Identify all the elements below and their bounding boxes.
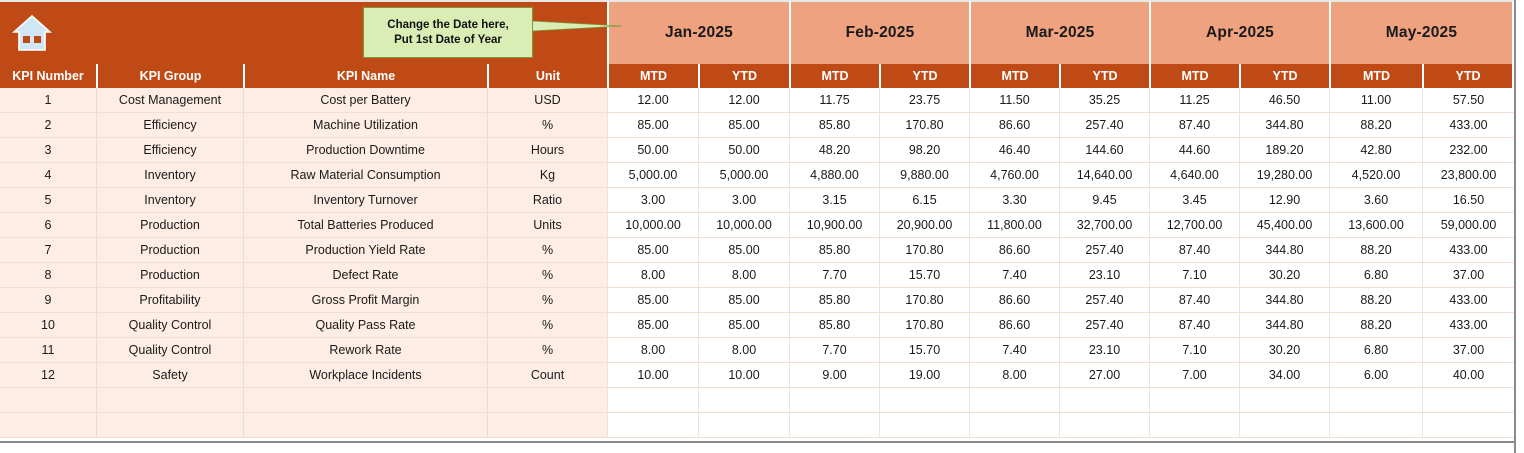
kpi-group-cell: Efficiency bbox=[96, 113, 243, 138]
value-cell: 85.80 bbox=[789, 288, 879, 313]
value-cell: 3.00 bbox=[698, 188, 789, 213]
kpi-unit-cell: % bbox=[487, 313, 607, 338]
value-cell: 433.00 bbox=[1422, 238, 1514, 263]
empty-cell bbox=[969, 413, 1059, 438]
value-cell: 86.60 bbox=[969, 288, 1059, 313]
value-cell: 23,800.00 bbox=[1422, 163, 1514, 188]
value-cell: 88.20 bbox=[1329, 238, 1422, 263]
value-cell: 257.40 bbox=[1059, 313, 1149, 338]
column-header-kpi-group[interactable]: KPI Group bbox=[96, 64, 243, 88]
value-cell: 170.80 bbox=[879, 238, 969, 263]
empty-cell bbox=[1422, 413, 1514, 438]
value-cell: 7.10 bbox=[1149, 263, 1239, 288]
value-cell: 8.00 bbox=[698, 338, 789, 363]
value-cell: 88.20 bbox=[1329, 288, 1422, 313]
kpi-number-cell: 6 bbox=[0, 213, 96, 238]
value-cell: 86.60 bbox=[969, 113, 1059, 138]
value-cell: 87.40 bbox=[1149, 313, 1239, 338]
value-cell: 85.00 bbox=[698, 313, 789, 338]
value-cell: 45,400.00 bbox=[1239, 213, 1329, 238]
empty-cell bbox=[1329, 388, 1422, 413]
kpi-unit-cell: Kg bbox=[487, 163, 607, 188]
column-header-kpi-number[interactable]: KPI Number bbox=[0, 64, 96, 88]
kpi-number-cell: 2 bbox=[0, 113, 96, 138]
column-header-jan-2025-mtd[interactable]: MTD bbox=[607, 64, 698, 88]
value-cell: 8.00 bbox=[607, 338, 698, 363]
horizontal-scrollbar[interactable] bbox=[0, 441, 1514, 453]
value-cell: 44.60 bbox=[1149, 138, 1239, 163]
value-cell: 6.15 bbox=[879, 188, 969, 213]
value-cell: 344.80 bbox=[1239, 288, 1329, 313]
kpi-name-cell: Workplace Incidents bbox=[243, 363, 487, 388]
value-cell: 10.00 bbox=[698, 363, 789, 388]
kpi-name-cell: Production Downtime bbox=[243, 138, 487, 163]
value-cell: 6.80 bbox=[1329, 338, 1422, 363]
kpi-unit-cell: % bbox=[487, 113, 607, 138]
kpi-number-cell: 9 bbox=[0, 288, 96, 313]
value-cell: 3.00 bbox=[607, 188, 698, 213]
month-header-may-2025[interactable]: May-2025 bbox=[1329, 0, 1514, 64]
value-cell: 85.00 bbox=[607, 113, 698, 138]
value-cell: 30.20 bbox=[1239, 263, 1329, 288]
value-cell: 86.60 bbox=[969, 313, 1059, 338]
value-cell: 257.40 bbox=[1059, 238, 1149, 263]
value-cell: 14,640.00 bbox=[1059, 163, 1149, 188]
value-cell: 10,000.00 bbox=[698, 213, 789, 238]
value-cell: 4,520.00 bbox=[1329, 163, 1422, 188]
empty-cell bbox=[1239, 388, 1329, 413]
column-header-may-2025-mtd[interactable]: MTD bbox=[1329, 64, 1422, 88]
kpi-number-cell: 12 bbox=[0, 363, 96, 388]
value-cell: 46.40 bbox=[969, 138, 1059, 163]
value-cell: 88.20 bbox=[1329, 313, 1422, 338]
kpi-unit-cell: % bbox=[487, 263, 607, 288]
value-cell: 6.80 bbox=[1329, 263, 1422, 288]
value-cell: 87.40 bbox=[1149, 113, 1239, 138]
kpi-unit-cell: Count bbox=[487, 363, 607, 388]
value-cell: 344.80 bbox=[1239, 113, 1329, 138]
kpi-group-cell: Safety bbox=[96, 363, 243, 388]
value-cell: 23.75 bbox=[879, 88, 969, 113]
value-cell: 3.45 bbox=[1149, 188, 1239, 213]
date-change-callout: Change the Date here, Put 1st Date of Ye… bbox=[363, 7, 533, 58]
value-cell: 11.50 bbox=[969, 88, 1059, 113]
month-header-feb-2025[interactable]: Feb-2025 bbox=[789, 0, 969, 64]
value-cell: 8.00 bbox=[698, 263, 789, 288]
empty-cell bbox=[243, 388, 487, 413]
kpi-number-cell: 11 bbox=[0, 338, 96, 363]
empty-cell bbox=[96, 388, 243, 413]
empty-cell bbox=[969, 388, 1059, 413]
value-cell: 23.10 bbox=[1059, 338, 1149, 363]
kpi-number-cell: 4 bbox=[0, 163, 96, 188]
value-cell: 59,000.00 bbox=[1422, 213, 1514, 238]
value-cell: 232.00 bbox=[1422, 138, 1514, 163]
value-cell: 86.60 bbox=[969, 238, 1059, 263]
value-cell: 16.50 bbox=[1422, 188, 1514, 213]
empty-cell bbox=[698, 388, 789, 413]
column-header-apr-2025-ytd[interactable]: YTD bbox=[1239, 64, 1329, 88]
value-cell: 7.40 bbox=[969, 338, 1059, 363]
value-cell: 9.45 bbox=[1059, 188, 1149, 213]
value-cell: 85.00 bbox=[698, 238, 789, 263]
value-cell: 15.70 bbox=[879, 338, 969, 363]
value-cell: 46.50 bbox=[1239, 88, 1329, 113]
column-header-kpi-name[interactable]: KPI Name bbox=[243, 64, 487, 88]
value-cell: 3.30 bbox=[969, 188, 1059, 213]
kpi-group-cell: Inventory bbox=[96, 163, 243, 188]
value-cell: 4,880.00 bbox=[789, 163, 879, 188]
kpi-group-cell: Inventory bbox=[96, 188, 243, 213]
column-header-may-2025-ytd[interactable]: YTD bbox=[1422, 64, 1514, 88]
kpi-group-cell: Quality Control bbox=[96, 313, 243, 338]
value-cell: 50.00 bbox=[607, 138, 698, 163]
kpi-name-cell: Raw Material Consumption bbox=[243, 163, 487, 188]
kpi-group-cell: Production bbox=[96, 238, 243, 263]
kpi-unit-cell: Units bbox=[487, 213, 607, 238]
value-cell: 7.70 bbox=[789, 263, 879, 288]
column-header-apr-2025-mtd[interactable]: MTD bbox=[1149, 64, 1239, 88]
empty-cell bbox=[789, 413, 879, 438]
column-header-feb-2025-mtd[interactable]: MTD bbox=[789, 64, 879, 88]
empty-cell bbox=[1059, 388, 1149, 413]
column-header-unit[interactable]: Unit bbox=[487, 64, 607, 88]
value-cell: 88.20 bbox=[1329, 113, 1422, 138]
kpi-number-cell: 3 bbox=[0, 138, 96, 163]
value-cell: 7.70 bbox=[789, 338, 879, 363]
value-cell: 85.00 bbox=[607, 238, 698, 263]
home-icon[interactable] bbox=[12, 14, 52, 52]
value-cell: 85.00 bbox=[607, 288, 698, 313]
value-cell: 3.15 bbox=[789, 188, 879, 213]
kpi-unit-cell: USD bbox=[487, 88, 607, 113]
empty-cell bbox=[789, 388, 879, 413]
value-cell: 85.00 bbox=[607, 313, 698, 338]
empty-cell bbox=[96, 413, 243, 438]
value-cell: 433.00 bbox=[1422, 288, 1514, 313]
value-cell: 5,000.00 bbox=[698, 163, 789, 188]
value-cell: 6.00 bbox=[1329, 363, 1422, 388]
value-cell: 37.00 bbox=[1422, 338, 1514, 363]
kpi-name-cell: Cost per Battery bbox=[243, 88, 487, 113]
empty-cell bbox=[698, 413, 789, 438]
value-cell: 13,600.00 bbox=[1329, 213, 1422, 238]
empty-cell bbox=[1059, 413, 1149, 438]
callout-pointer-icon bbox=[532, 18, 622, 34]
column-header-jan-2025-ytd[interactable]: YTD bbox=[698, 64, 789, 88]
month-header-mar-2025[interactable]: Mar-2025 bbox=[969, 0, 1149, 64]
kpi-number-cell: 5 bbox=[0, 188, 96, 213]
value-cell: 85.80 bbox=[789, 238, 879, 263]
kpi-name-cell: Production Yield Rate bbox=[243, 238, 487, 263]
value-cell: 257.40 bbox=[1059, 288, 1149, 313]
month-header-apr-2025[interactable]: Apr-2025 bbox=[1149, 0, 1329, 64]
value-cell: 433.00 bbox=[1422, 113, 1514, 138]
value-cell: 10.00 bbox=[607, 363, 698, 388]
empty-cell bbox=[1422, 388, 1514, 413]
empty-cell bbox=[0, 388, 96, 413]
kpi-unit-cell: % bbox=[487, 338, 607, 363]
kpi-name-cell: Rework Rate bbox=[243, 338, 487, 363]
kpi-group-cell: Cost Management bbox=[96, 88, 243, 113]
value-cell: 19.00 bbox=[879, 363, 969, 388]
value-cell: 27.00 bbox=[1059, 363, 1149, 388]
value-cell: 11.00 bbox=[1329, 88, 1422, 113]
kpi-unit-cell: % bbox=[487, 238, 607, 263]
kpi-name-cell: Defect Rate bbox=[243, 263, 487, 288]
kpi-name-cell: Total Batteries Produced bbox=[243, 213, 487, 238]
value-cell: 98.20 bbox=[879, 138, 969, 163]
callout-line-2: Put 1st Date of Year bbox=[394, 33, 502, 48]
kpi-name-cell: Machine Utilization bbox=[243, 113, 487, 138]
value-cell: 87.40 bbox=[1149, 238, 1239, 263]
value-cell: 10,000.00 bbox=[607, 213, 698, 238]
value-cell: 32,700.00 bbox=[1059, 213, 1149, 238]
value-cell: 4,640.00 bbox=[1149, 163, 1239, 188]
value-cell: 11.75 bbox=[789, 88, 879, 113]
kpi-group-cell: Production bbox=[96, 263, 243, 288]
empty-cell bbox=[607, 388, 698, 413]
value-cell: 37.00 bbox=[1422, 263, 1514, 288]
value-cell: 7.10 bbox=[1149, 338, 1239, 363]
value-cell: 8.00 bbox=[607, 263, 698, 288]
value-cell: 12.00 bbox=[698, 88, 789, 113]
value-cell: 3.60 bbox=[1329, 188, 1422, 213]
kpi-name-cell: Gross Profit Margin bbox=[243, 288, 487, 313]
column-header-feb-2025-ytd[interactable]: YTD bbox=[879, 64, 969, 88]
value-cell: 170.80 bbox=[879, 313, 969, 338]
value-cell: 85.00 bbox=[698, 113, 789, 138]
empty-cell bbox=[0, 413, 96, 438]
column-header-mar-2025-ytd[interactable]: YTD bbox=[1059, 64, 1149, 88]
empty-cell bbox=[879, 413, 969, 438]
empty-cell bbox=[879, 388, 969, 413]
empty-cell bbox=[1329, 413, 1422, 438]
kpi-number-cell: 7 bbox=[0, 238, 96, 263]
empty-cell bbox=[1239, 413, 1329, 438]
empty-cell bbox=[487, 388, 607, 413]
kpi-number-cell: 1 bbox=[0, 88, 96, 113]
value-cell: 23.10 bbox=[1059, 263, 1149, 288]
value-cell: 9.00 bbox=[789, 363, 879, 388]
value-cell: 87.40 bbox=[1149, 288, 1239, 313]
kpi-group-cell: Efficiency bbox=[96, 138, 243, 163]
value-cell: 85.80 bbox=[789, 313, 879, 338]
kpi-unit-cell: % bbox=[487, 288, 607, 313]
value-cell: 20,900.00 bbox=[879, 213, 969, 238]
value-cell: 433.00 bbox=[1422, 313, 1514, 338]
column-header-mar-2025-mtd[interactable]: MTD bbox=[969, 64, 1059, 88]
value-cell: 170.80 bbox=[879, 288, 969, 313]
empty-cell bbox=[1149, 388, 1239, 413]
value-cell: 42.80 bbox=[1329, 138, 1422, 163]
kpi-group-cell: Profitability bbox=[96, 288, 243, 313]
value-cell: 15.70 bbox=[879, 263, 969, 288]
value-cell: 7.40 bbox=[969, 263, 1059, 288]
callout-line-1: Change the Date here, bbox=[387, 18, 508, 33]
kpi-number-cell: 8 bbox=[0, 263, 96, 288]
kpi-unit-cell: Ratio bbox=[487, 188, 607, 213]
value-cell: 12,700.00 bbox=[1149, 213, 1239, 238]
value-cell: 34.00 bbox=[1239, 363, 1329, 388]
value-cell: 11.25 bbox=[1149, 88, 1239, 113]
kpi-group-cell: Production bbox=[96, 213, 243, 238]
empty-cell bbox=[1149, 413, 1239, 438]
kpi-name-cell: Inventory Turnover bbox=[243, 188, 487, 213]
value-cell: 40.00 bbox=[1422, 363, 1514, 388]
value-cell: 11,800.00 bbox=[969, 213, 1059, 238]
value-cell: 8.00 bbox=[969, 363, 1059, 388]
empty-cell bbox=[243, 413, 487, 438]
value-cell: 85.80 bbox=[789, 113, 879, 138]
empty-cell bbox=[487, 413, 607, 438]
value-cell: 12.00 bbox=[607, 88, 698, 113]
value-cell: 30.20 bbox=[1239, 338, 1329, 363]
value-cell: 189.20 bbox=[1239, 138, 1329, 163]
value-cell: 48.20 bbox=[789, 138, 879, 163]
value-cell: 4,760.00 bbox=[969, 163, 1059, 188]
vertical-scrollbar[interactable] bbox=[1514, 0, 1524, 453]
value-cell: 7.00 bbox=[1149, 363, 1239, 388]
value-cell: 57.50 bbox=[1422, 88, 1514, 113]
kpi-number-cell: 10 bbox=[0, 313, 96, 338]
value-cell: 10,900.00 bbox=[789, 213, 879, 238]
value-cell: 257.40 bbox=[1059, 113, 1149, 138]
empty-cell bbox=[607, 413, 698, 438]
value-cell: 9,880.00 bbox=[879, 163, 969, 188]
kpi-unit-cell: Hours bbox=[487, 138, 607, 163]
month-header-jan-2025[interactable]: Jan-2025 bbox=[607, 0, 789, 64]
value-cell: 344.80 bbox=[1239, 313, 1329, 338]
value-cell: 344.80 bbox=[1239, 238, 1329, 263]
kpi-name-cell: Quality Pass Rate bbox=[243, 313, 487, 338]
value-cell: 19,280.00 bbox=[1239, 163, 1329, 188]
value-cell: 12.90 bbox=[1239, 188, 1329, 213]
value-cell: 50.00 bbox=[698, 138, 789, 163]
value-cell: 170.80 bbox=[879, 113, 969, 138]
kpi-dashboard-sheet: Change the Date here, Put 1st Date of Ye… bbox=[0, 0, 1524, 453]
value-cell: 5,000.00 bbox=[607, 163, 698, 188]
kpi-group-cell: Quality Control bbox=[96, 338, 243, 363]
value-cell: 35.25 bbox=[1059, 88, 1149, 113]
value-cell: 85.00 bbox=[698, 288, 789, 313]
value-cell: 144.60 bbox=[1059, 138, 1149, 163]
